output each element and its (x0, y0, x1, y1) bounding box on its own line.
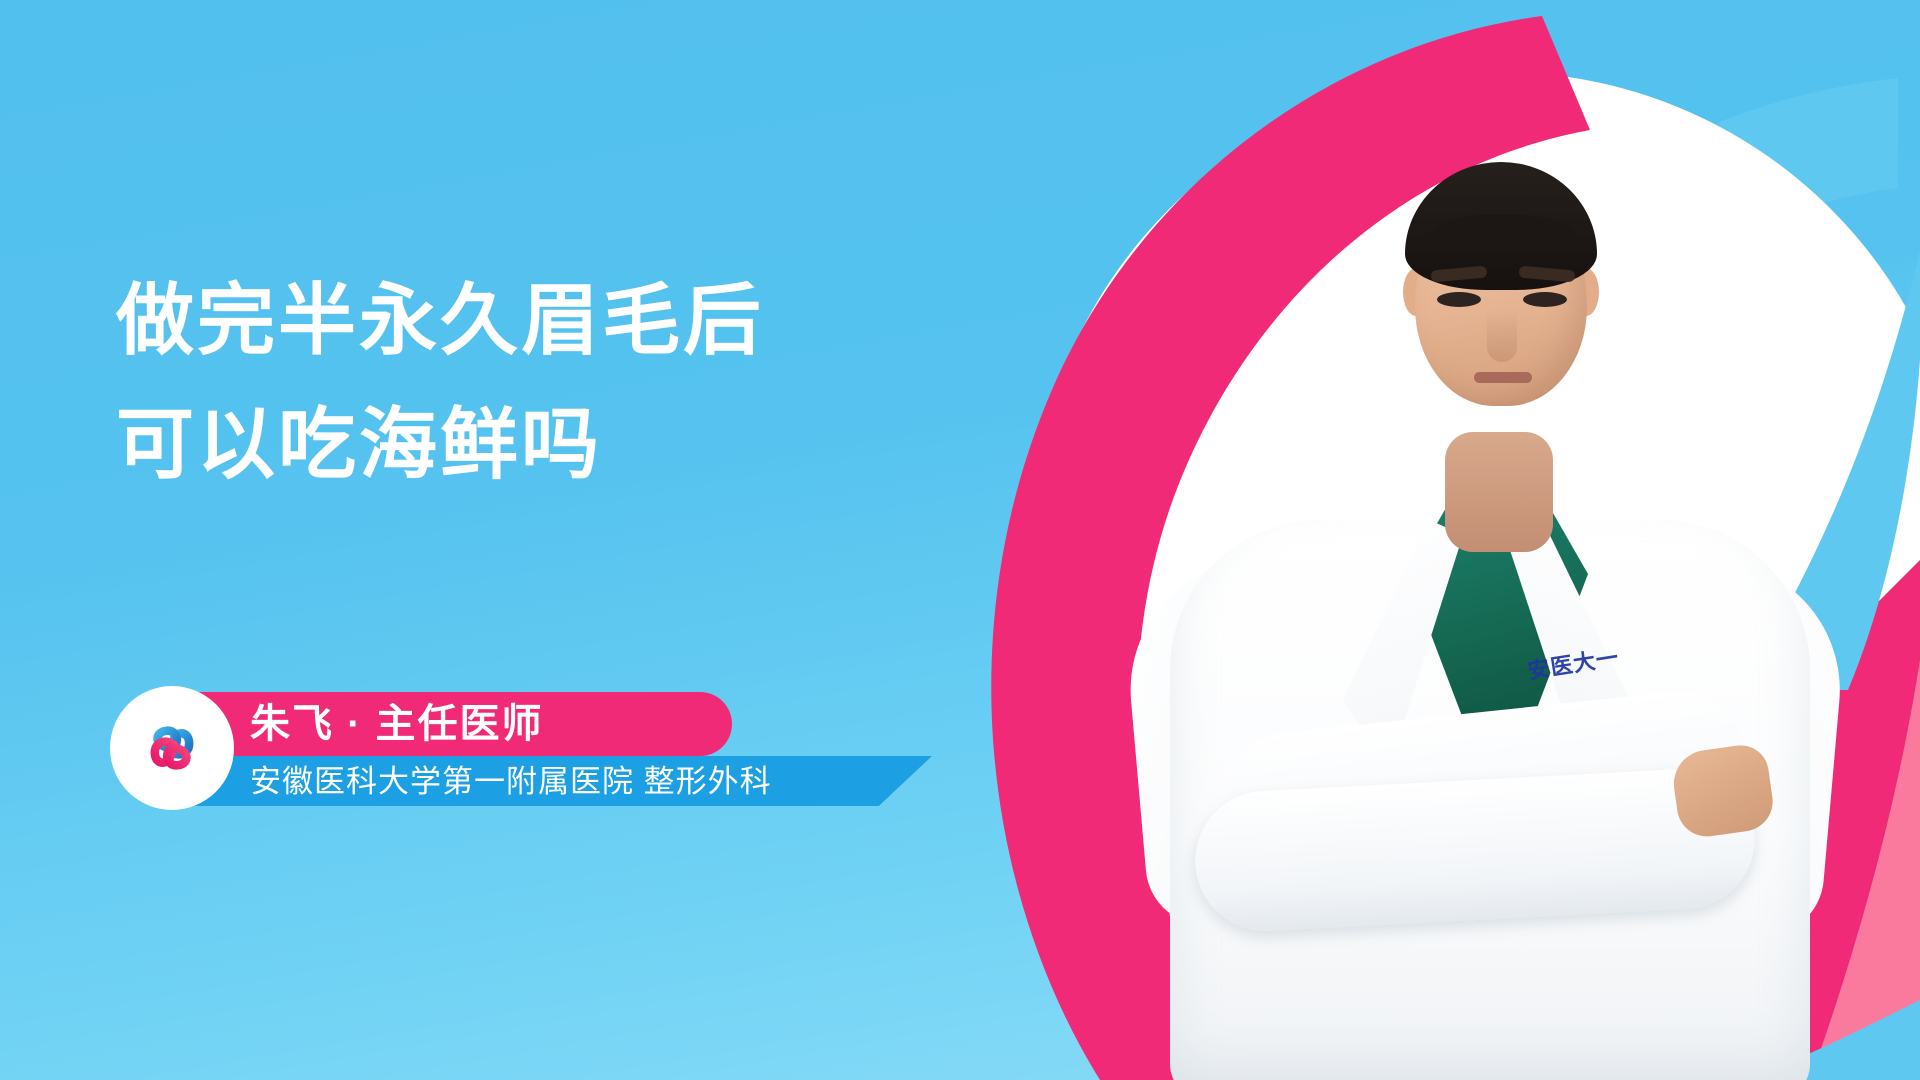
eye-left (1437, 292, 1481, 307)
eye-right (1523, 292, 1567, 307)
mouth (1474, 372, 1532, 383)
doctor-credential-badge: 朱飞 · 主任医师 安徽医科大学第一附属医院 整形外科 (110, 686, 950, 818)
nose (1487, 310, 1517, 362)
title-line-1: 做完半永久眉毛后 (116, 276, 764, 364)
doctor-portrait: 安医大一 (1075, 0, 1920, 1080)
hand (1669, 742, 1776, 841)
arm-front-crossed (1192, 765, 1759, 934)
doctor-name-title: 朱飞 · 主任医师 (250, 698, 720, 750)
banner-stage: 安医大一 做完半永久眉毛后 可以吃海鲜吗 (0, 0, 1920, 1080)
clover-infinity-logo-icon (110, 686, 234, 810)
title-line-2: 可以吃海鲜吗 (116, 382, 936, 506)
page-title: 做完半永久眉毛后 可以吃海鲜吗 (116, 258, 936, 506)
neck (1445, 432, 1553, 552)
hospital-department: 安徽医科大学第一附属医院 整形外科 (250, 762, 950, 802)
